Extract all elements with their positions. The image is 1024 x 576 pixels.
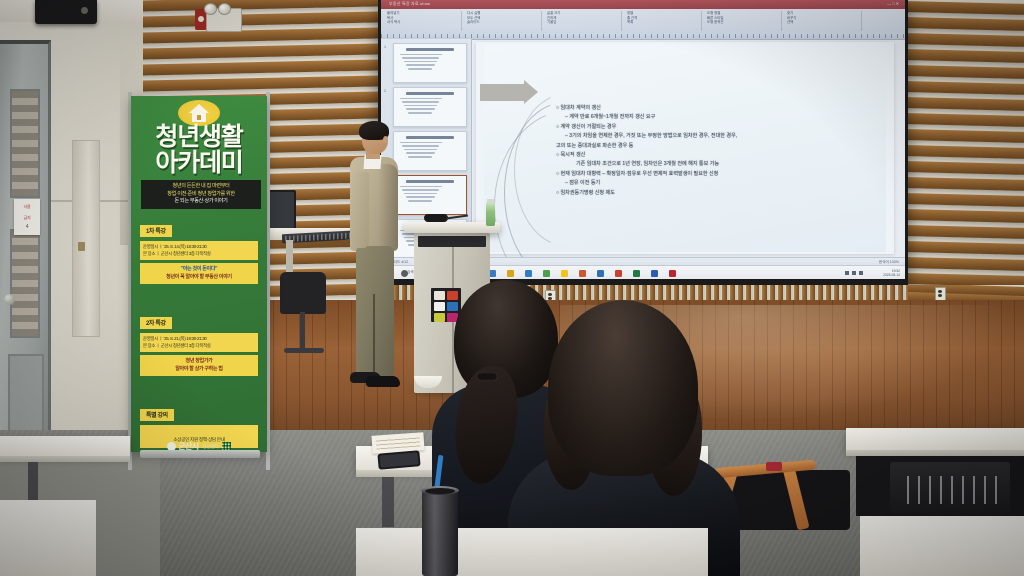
banner-base [140,450,260,458]
door-panel [8,354,44,438]
ribbon-item[interactable]: 도형 윤곽선 [705,20,781,25]
slide-line: ○ 계약 갱신이 거절되는 경우 [556,123,876,132]
session-1-quote-line1: "아는 것이 돈이다" [142,266,256,273]
desk-left [0,436,130,456]
file-explorer-icon[interactable] [507,270,514,277]
center-name: 청년센터 [203,444,219,449]
ribbon-item[interactable]: 선택 [785,20,861,25]
water-bottle-icon[interactable] [486,202,495,226]
operator-chair[interactable] [280,272,326,314]
ribbon-group-2[interactable]: 다시 실행모두 선택슬라이드 [465,11,542,31]
session-1-quote-line2: 청년이 꼭 알아야 할 부동산 이야기 [142,274,256,281]
hair-tie-icon [476,372,498,381]
door-window-upper [10,89,40,198]
house-roof-icon [189,104,209,113]
recess-handle[interactable] [78,242,85,251]
word-icon[interactable] [651,270,658,277]
door-window-lower [10,229,40,338]
battery-icon[interactable] [845,271,849,275]
slide-line-text: 묵시적 갱신 [561,152,586,158]
promotional-banner: 청년생활 아카데미 청년의 든든한 내 집 마련부터 창업·이전·준비 청년 창… [131,96,267,452]
door-sign-line1: 사용 [14,199,40,210]
banner-subtitle: 청년의 든든한 내 집 마련부터 창업·이전·준비 청년 창업가를 위한 돈 되… [141,180,261,209]
desk-center-leg [382,477,394,527]
banner-subtitle-line3: 돈 되는 부동산·상가 이야기 [143,198,259,206]
slide-line: ○ 임대차 계약의 갱신 [556,104,876,113]
slide-line: ○ 현재 임대차 대항력 – 확정일자·점유로 우선 변제적 효력발생이 필요한… [556,170,876,179]
document-title: 부동산 특강 자료.show [389,1,430,7]
slide-line-text: 현재 임대차 대항력 – 확정일자·점유로 우선 변제적 효력발생이 필요한 신… [561,171,719,177]
slide-line-text: 기존 임대차 조건으로 1년 연장, 임차인은 3개월 전에 해지 통보 가능 [576,161,719,167]
attendee-2-hair [548,300,698,476]
slide-thumbnail[interactable] [393,43,467,83]
session-1-tag: 1차 특강 [140,225,172,237]
ribbon-item[interactable]: 슬라이드 [465,20,541,25]
door-notice-sign: 사용 금지 4 [14,199,40,235]
ribbon-item[interactable]: 기울임 [545,20,621,25]
chair-base [284,348,324,353]
session-2-quote-line1: 청년 창업가가 [142,358,256,365]
edge-icon[interactable] [525,270,532,277]
slide-line-text: 계약 갱신이 거절되는 경우 [561,124,617,130]
tumbler[interactable] [422,489,458,576]
lecture-hall-photo: 사용 금지 4 부동산 특강 자료.show — □ ✕ 붙여넣기복사서식 복사… [0,0,1024,576]
session-1-quote: "아는 것이 돈이다" 청년이 꼭 알아야 할 부동산 이야기 [140,263,258,284]
session-block-1: 1차 특강 운영일시 ㅣ '25. 8. 14.(목) 19:30-21:30 … [140,220,258,284]
kakao-icon[interactable] [561,270,568,277]
side-door[interactable]: 사용 금지 4 [0,40,51,444]
thumbnail-number: 1 [384,45,386,49]
ribbon-item[interactable]: 목록 [625,20,701,25]
ribbon-group-1[interactable]: 붙여넣기복사서식 복사 [385,11,462,31]
slide-body: ○ 임대차 계약의 갱신– 계약 만료 6개월~1개월 전까지 갱신 요구○ 계… [556,104,876,198]
chrome-icon[interactable] [543,270,550,277]
presenter-shoe [366,376,400,387]
desk-front-row [356,528,708,576]
desk-left-edge [0,456,130,462]
desk-left-front [0,500,96,576]
session-1-row1: 운영일시 ㅣ '25. 8. 14.(목) 19:30-21:30 [143,244,255,251]
slide-line: – 점유 이전 등기 [556,179,876,188]
microphone-icon[interactable] [424,214,448,222]
right-arrow-shape [480,84,524,101]
tumbler-lid [425,488,455,494]
door-knob-icon[interactable] [4,294,15,305]
house-body-icon [192,113,206,122]
slide-line-text: 고의 또는 중대과실로 파손한 경우 등 [556,143,633,149]
desk-right-front [860,516,1024,576]
lectern-trim [418,236,486,247]
slide-line: 고의 또는 중대과실로 파손한 경우 등 [556,142,876,151]
desk-right [846,428,1024,450]
chair-right[interactable] [890,462,1010,516]
window-controls[interactable]: — □ ✕ [887,1,899,6]
status-right: 한국어 100% [879,260,899,265]
banner-title-line1: 청년생활 [131,124,267,150]
ceiling-monitor [35,0,97,24]
banner-subtitle-line1: 청년의 든든한 내 집 마련부터 [143,183,259,191]
slide-line: ○ 임차권등기명령 신청 제도 [556,189,876,198]
slide-line-text: 임차권등기명령 신청 제도 [561,190,615,196]
slide-canvas: ○ 임대차 계약의 갱신– 계약 만료 6개월~1개월 전까지 갱신 요구○ 계… [476,42,894,254]
presenter-arm [352,172,369,248]
emergency-lamp-left-icon [204,3,217,15]
slide-line: ○ 묵시적 갱신 [556,151,876,160]
app-titlebar: 부동산 특강 자료.show — □ ✕ [381,0,905,9]
door-sign-line2: 금지 [14,210,40,221]
presenter-trousers [356,246,394,376]
door-sign-number: 4 [14,221,40,230]
banner-title: 청년생활 아카데미 [131,124,267,176]
session-2-quote-line2: 알아야 할 상가 구하는 법 [142,366,256,373]
wifi-icon[interactable] [859,271,863,275]
session-2-row1: 운영일시 ㅣ '25. 8. 21.(목) 19:30-21:30 [143,336,255,343]
banner-title-line2: 아카데미 [131,150,267,176]
slide-thumbnail[interactable] [393,87,467,127]
session-2-quote: 청년 창업가가 알아야 할 상가 구하는 법 [140,355,258,376]
hancom-icon[interactable] [597,270,604,277]
session-2-details: 운영일시 ㅣ '25. 8. 21.(목) 19:30-21:30 본 장소 ㅣ… [140,333,258,352]
bag-clip-icon [766,462,782,471]
wall-recess [72,140,100,337]
ribbon-group-4[interactable]: 정렬줄 간격목록 [625,11,702,31]
emergency-lamp-right-icon [218,3,231,15]
excel-icon[interactable] [633,270,640,277]
ribbon-group-5[interactable]: 도형 정렬빠른 스타일도형 윤곽선 [705,11,782,31]
ribbon-group-3[interactable]: 글꼴 크기진하게기울임 [545,11,622,31]
special-tag: 특별 강의 [140,409,174,421]
chair-post [300,312,305,352]
session-2-row2: 본 장소 ㅣ 군산시 청년센터 3층 다목적실 [143,343,255,350]
session-1-row2: 본 장소 ㅣ 군산시 청년센터 3층 다목적실 [143,251,255,258]
slide-line: 기존 임대차 조건으로 1년 연장, 임차인은 3개월 전에 해지 통보 가능 [556,160,876,169]
slide-line-text: 계약 만료 6개월~1개월 전까지 갱신 요구 [569,114,655,120]
app-ribbon[interactable]: 붙여넣기복사서식 복사다시 실행모두 선택슬라이드글꼴 크기진하게기울임정렬줄 … [381,9,905,34]
thumbnail-number: 2 [384,89,386,93]
session-block-2: 2차 특강 운영일시 ㅣ '25. 8. 21.(목) 19:30-21:30 … [140,312,258,376]
slide-line-text: 3기의 차임을 연체한 경우, 거짓 또는 부정한 방법으로 임차한 경우, 전… [569,133,737,139]
pdf-icon[interactable] [669,270,676,277]
powerpoint-icon[interactable] [615,270,622,277]
volume-icon[interactable] [852,271,856,275]
ribbon-group-6[interactable]: 찾기바꾸기선택 [785,11,862,31]
power-outlet-icon[interactable] [935,287,946,301]
slide-line: – 3기의 차임을 연체한 경우, 거짓 또는 부정한 방법으로 임차한 경우,… [556,132,876,141]
presenter [344,124,408,396]
widgets-icon[interactable] [489,270,496,277]
slide-line-text: 점유 이전 등기 [569,180,600,186]
mail-icon[interactable] [579,270,586,277]
taskbar-clock[interactable]: 19:52 2025-08-14 [883,269,900,278]
slide-line: – 계약 만료 6개월~1개월 전까지 갱신 요구 [556,113,876,122]
session-1-details: 운영일시 ㅣ '25. 8. 14.(목) 19:30-21:30 본 장소 ㅣ… [140,241,258,260]
ribbon-item[interactable]: 서식 복사 [385,20,461,25]
clock-date: 2025-08-14 [883,273,900,278]
session-2-tag: 2차 특강 [140,317,172,329]
slide-line-text: 임대차 계약의 갱신 [561,105,601,111]
